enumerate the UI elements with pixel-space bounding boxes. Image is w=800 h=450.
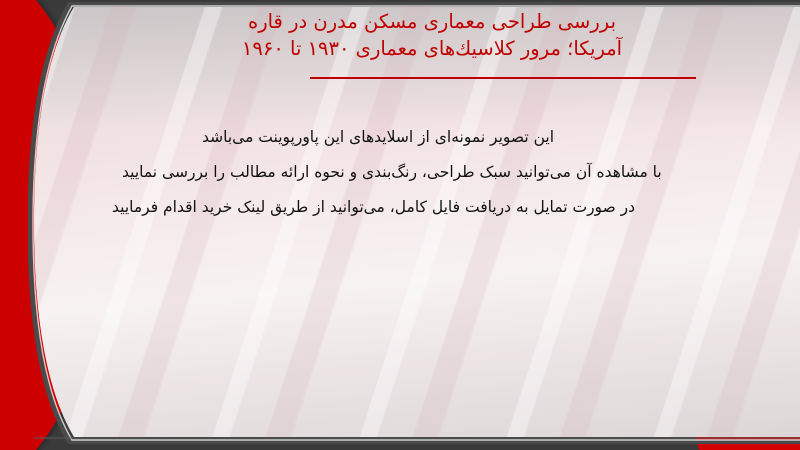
slide-body: این تصویر نمونه‌ای از اسلایدهای این پاور… bbox=[34, 120, 800, 225]
title-underline-rule bbox=[310, 77, 696, 79]
title-line-1: بررسی طراحی معماری مسکن مدرن در قاره bbox=[94, 8, 770, 35]
slide-title: بررسی طراحی معماری مسکن مدرن در قاره آمر… bbox=[34, 8, 800, 62]
title-line-2: آمریکا؛ مرور کلاسیك‌های معماری ۱۹۳۰ تا ۱… bbox=[94, 35, 770, 62]
body-line-3: در صورت تمایل به دریافت فایل کامل، می‌تو… bbox=[94, 190, 772, 225]
body-line-2: با مشاهده آن می‌توانید سبک طراحی، رنگ‌بن… bbox=[94, 155, 772, 190]
presentation-slide: بررسی طراحی معماری مسکن مدرن در قاره آمر… bbox=[0, 0, 800, 450]
slide-text-content: بررسی طراحی معماری مسکن مدرن در قاره آمر… bbox=[34, 0, 800, 450]
body-line-1: این تصویر نمونه‌ای از اسلایدهای این پاور… bbox=[94, 120, 772, 155]
